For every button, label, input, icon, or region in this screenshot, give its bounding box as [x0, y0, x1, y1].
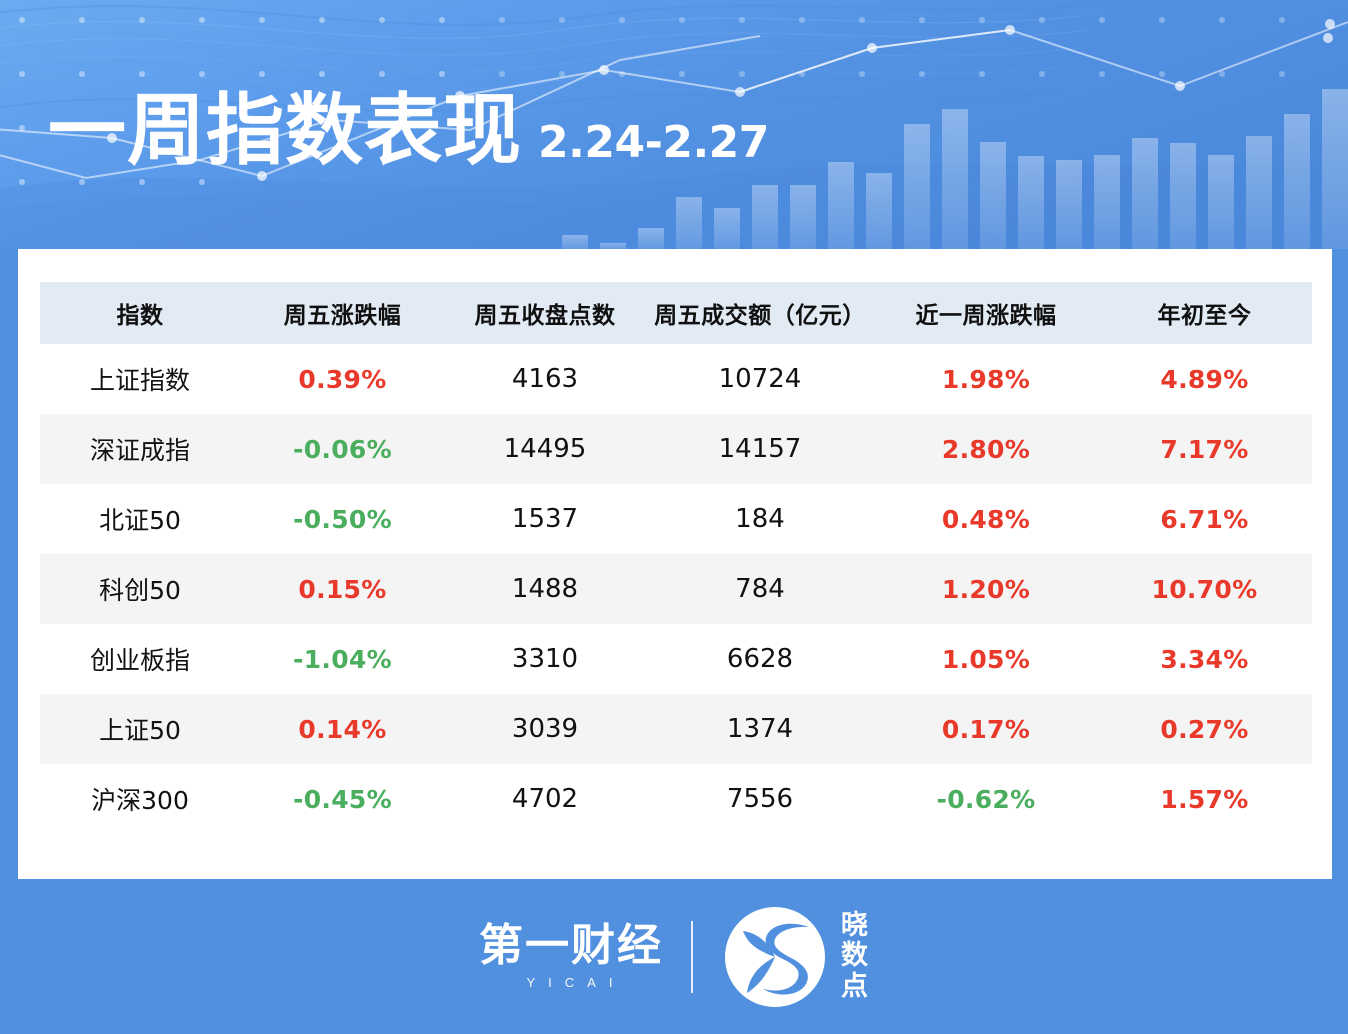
cell-ytd-change: 1.57%: [1097, 764, 1312, 834]
cell-index-name: 创业板指: [40, 624, 240, 694]
cell-ytd-change: 3.34%: [1097, 624, 1312, 694]
cell-friday-change: -0.50%: [240, 484, 445, 554]
cell-friday-turnover: 6628: [645, 624, 875, 694]
cell-index-name: 北证50: [40, 484, 240, 554]
cell-week-change: 1.98%: [875, 344, 1097, 414]
cell-friday-change: -1.04%: [240, 624, 445, 694]
table-header-row: 指数 周五涨跌幅 周五收盘点数 周五成交额（亿元） 近一周涨跌幅 年初至今: [40, 282, 1312, 344]
cell-ytd-change: 4.89%: [1097, 344, 1312, 414]
cell-friday-close: 14495: [445, 414, 645, 484]
col-header-friday-turnover: 周五成交额（亿元）: [645, 282, 875, 344]
table-row: 深证成指 -0.06% 14495 14157 2.80% 7.17%: [40, 414, 1312, 484]
col-header-week-change: 近一周涨跌幅: [875, 282, 1097, 344]
yicai-brand-en: YICAI: [527, 975, 626, 990]
table-row: 沪深300 -0.45% 4702 7556 -0.62% 1.57%: [40, 764, 1312, 834]
page-title: 一周指数表现: [48, 92, 522, 170]
cell-friday-close: 3310: [445, 624, 645, 694]
col-header-index: 指数: [40, 282, 240, 344]
table-row: 上证指数 0.39% 4163 10724 1.98% 4.89%: [40, 344, 1312, 414]
cell-friday-turnover: 14157: [645, 414, 875, 484]
footer-divider: [691, 921, 693, 993]
cell-friday-change: 0.39%: [240, 344, 445, 414]
index-table-card: 指数 周五涨跌幅 周五收盘点数 周五成交额（亿元） 近一周涨跌幅 年初至今 上证…: [18, 249, 1332, 879]
table-row: 上证50 0.14% 3039 1374 0.17% 0.27%: [40, 694, 1312, 764]
cell-week-change: 2.80%: [875, 414, 1097, 484]
xiaoshudian-logo: 晓 数 点: [723, 905, 869, 1009]
table-header: 指数 周五涨跌幅 周五收盘点数 周五成交额（亿元） 近一周涨跌幅 年初至今: [40, 282, 1312, 344]
header-banner: 一周指数表现 2.24-2.27: [0, 0, 1348, 249]
table-body: 上证指数 0.39% 4163 10724 1.98% 4.89% 深证成指 -…: [40, 344, 1312, 834]
cell-ytd-change: 6.71%: [1097, 484, 1312, 554]
cell-week-change: 0.48%: [875, 484, 1097, 554]
xsd-char-1: 晓: [841, 911, 869, 941]
cell-friday-change: 0.14%: [240, 694, 445, 764]
col-header-friday-close: 周五收盘点数: [445, 282, 645, 344]
poster-title-block: 一周指数表现 2.24-2.27: [48, 92, 769, 170]
cell-index-name: 科创50: [40, 554, 240, 624]
cell-index-name: 沪深300: [40, 764, 240, 834]
cell-index-name: 上证指数: [40, 344, 240, 414]
cell-friday-turnover: 184: [645, 484, 875, 554]
cell-friday-turnover: 7556: [645, 764, 875, 834]
cell-ytd-change: 10.70%: [1097, 554, 1312, 624]
yicai-logo: 第一财经 YICAI: [479, 924, 663, 990]
xsd-char-3: 点: [841, 972, 869, 1002]
cell-friday-close: 4702: [445, 764, 645, 834]
cell-friday-turnover: 784: [645, 554, 875, 624]
cell-index-name: 上证50: [40, 694, 240, 764]
cell-ytd-change: 7.17%: [1097, 414, 1312, 484]
table-row: 北证50 -0.50% 1537 184 0.48% 6.71%: [40, 484, 1312, 554]
cell-week-change: 1.20%: [875, 554, 1097, 624]
date-range-label: 2.24-2.27: [538, 121, 769, 165]
poster-root: 一周指数表现 2.24-2.27 指数 周五涨跌幅 周五收盘点数 周五成交额（亿…: [0, 0, 1348, 1034]
xsd-s-logo-icon: [723, 905, 827, 1009]
xsd-char-2: 数: [841, 941, 869, 971]
index-performance-table: 指数 周五涨跌幅 周五收盘点数 周五成交额（亿元） 近一周涨跌幅 年初至今 上证…: [40, 282, 1312, 834]
cell-week-change: -0.62%: [875, 764, 1097, 834]
table-row: 科创50 0.15% 1488 784 1.20% 10.70%: [40, 554, 1312, 624]
cell-friday-close: 1488: [445, 554, 645, 624]
xsd-brand-text: 晓 数 点: [841, 911, 869, 1002]
footer-branding: 第一财经 YICAI 晓 数 点: [0, 879, 1348, 1034]
cell-friday-change: 0.15%: [240, 554, 445, 624]
col-header-ytd-change: 年初至今: [1097, 282, 1312, 344]
cell-friday-turnover: 1374: [645, 694, 875, 764]
cell-friday-close: 4163: [445, 344, 645, 414]
cell-week-change: 1.05%: [875, 624, 1097, 694]
cell-friday-change: -0.45%: [240, 764, 445, 834]
cell-index-name: 深证成指: [40, 414, 240, 484]
cell-friday-close: 1537: [445, 484, 645, 554]
cell-week-change: 0.17%: [875, 694, 1097, 764]
yicai-brand-cn: 第一财经: [479, 924, 663, 968]
cell-friday-turnover: 10724: [645, 344, 875, 414]
cell-friday-change: -0.06%: [240, 414, 445, 484]
table-row: 创业板指 -1.04% 3310 6628 1.05% 3.34%: [40, 624, 1312, 694]
col-header-friday-change: 周五涨跌幅: [240, 282, 445, 344]
cell-friday-close: 3039: [445, 694, 645, 764]
cell-ytd-change: 0.27%: [1097, 694, 1312, 764]
